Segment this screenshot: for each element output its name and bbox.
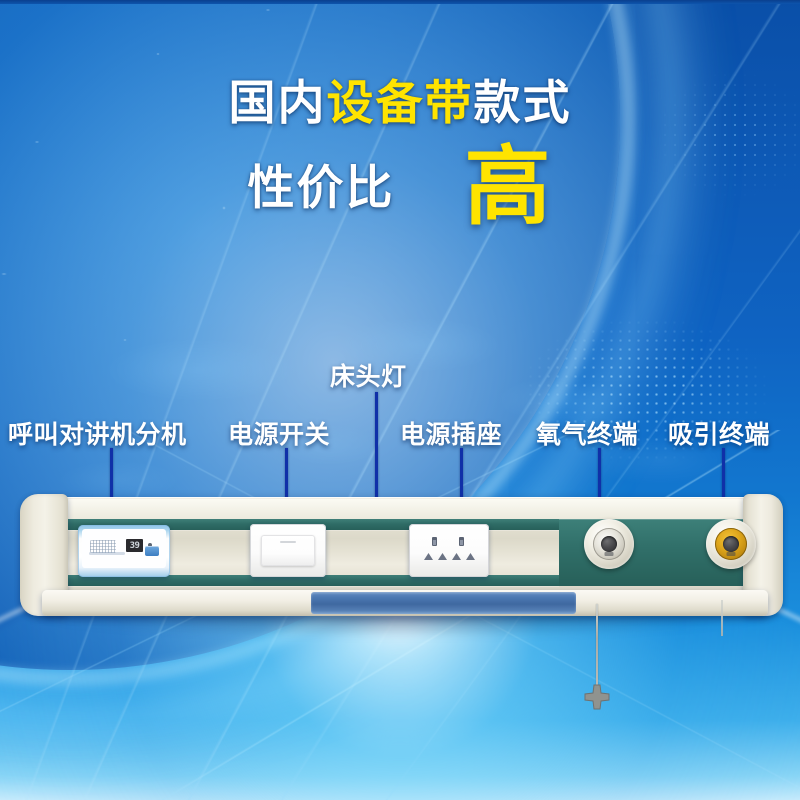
suction-terminal-port [723, 536, 739, 552]
halftone-dots-upper-right [620, 60, 800, 210]
switch-indicator-mark [280, 541, 296, 543]
panel-drop-shadow [34, 615, 769, 637]
intercom-label-slot [89, 552, 125, 555]
callout-label-power-socket: 电源插座 [400, 415, 502, 451]
panel-top-bevel [58, 499, 770, 519]
nurse-call-intercom[interactable]: 39 [78, 525, 170, 577]
halftone-dots-center [490, 300, 800, 480]
callout-label-power-switch: 电源开关 [228, 415, 330, 451]
panel-rail-blue-accent [311, 592, 576, 614]
suction-terminal[interactable] [706, 519, 756, 569]
oxygen-terminal-marking [605, 552, 614, 556]
top-edge-bar [0, 0, 800, 4]
bed-head-unit-panel: 39 [24, 497, 778, 635]
oxygen-terminal-port [601, 536, 617, 552]
pull-cord-secondary[interactable] [721, 600, 723, 636]
callout-label-bedside-lamp: 床头灯 [330, 357, 407, 393]
promo-banner: 国内设备带款式 性价比 高 呼叫对讲机分机 电源开关 床头灯 电源插座 氧气终端… [0, 0, 800, 800]
callout-label-oxygen-terminal: 氧气终端 [536, 415, 638, 451]
power-switch-rocker[interactable] [261, 535, 315, 566]
socket-slot-icon [438, 553, 447, 560]
suction-terminal-marking [727, 552, 736, 556]
intercom-display: 39 [126, 539, 143, 552]
suction-terminal-ring [715, 528, 747, 560]
socket-pin-icon [432, 537, 437, 546]
socket-slot-icon [424, 553, 433, 560]
callout-label-suction-terminal: 吸引终端 [668, 415, 770, 451]
socket-slot-icon [452, 553, 461, 560]
oxygen-terminal-ring [593, 528, 625, 560]
callout-label-nurse-call-intercom: 呼叫对讲机分机 [8, 415, 187, 451]
pull-cord[interactable] [596, 604, 598, 690]
oxygen-terminal[interactable] [584, 519, 634, 569]
power-socket[interactable] [409, 524, 489, 577]
pull-cord-handle-icon[interactable] [583, 683, 611, 711]
socket-slot-icon [466, 553, 475, 560]
intercom-call-button[interactable] [145, 546, 159, 556]
socket-pin-icon [459, 537, 464, 546]
intercom-faceplate: 39 [82, 529, 166, 568]
power-switch[interactable] [250, 524, 326, 577]
socket-faceplate [418, 531, 480, 570]
